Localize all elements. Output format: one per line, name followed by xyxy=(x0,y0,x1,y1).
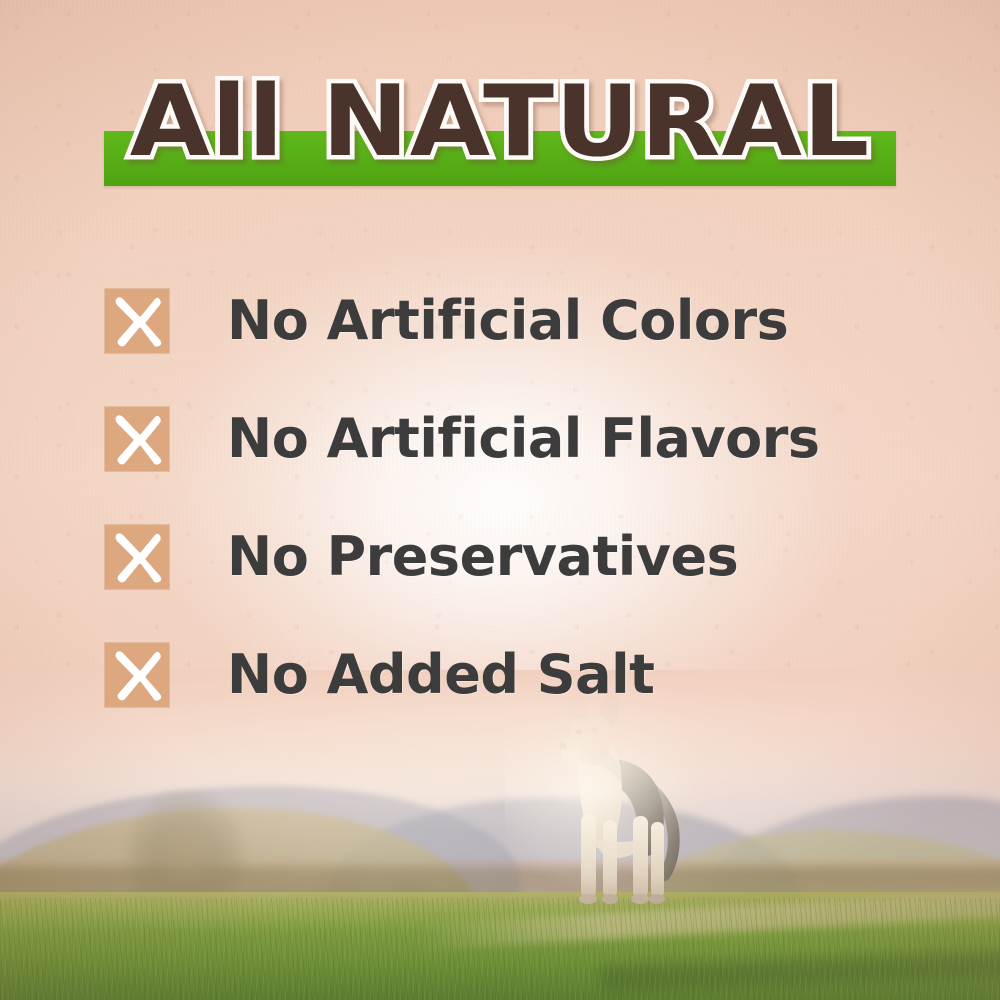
grass-texture xyxy=(0,898,1000,1000)
claim-label: No Artificial Colors xyxy=(227,292,788,350)
claim-item: No Artificial Colors xyxy=(105,262,895,380)
headline-banner: All NATURAL xyxy=(0,70,1000,200)
x-mark-icon xyxy=(105,525,169,589)
claims-list: No Artificial Colors No Artificial Flavo… xyxy=(105,262,895,734)
claim-label: No Added Salt xyxy=(227,646,654,704)
claim-label: No Artificial Flavors xyxy=(227,410,820,468)
x-mark-icon xyxy=(105,407,169,471)
claim-item: No Preservatives xyxy=(105,498,895,616)
x-mark-icon xyxy=(105,289,169,353)
x-mark-icon xyxy=(105,643,169,707)
claim-item: No Added Salt xyxy=(105,616,895,734)
headline-title: All NATURAL xyxy=(0,70,1000,174)
product-claims-graphic: All NATURAL No Artificial Colors No Arti… xyxy=(0,0,1000,1000)
claim-item: No Artificial Flavors xyxy=(105,380,895,498)
claim-label: No Preservatives xyxy=(227,528,738,586)
